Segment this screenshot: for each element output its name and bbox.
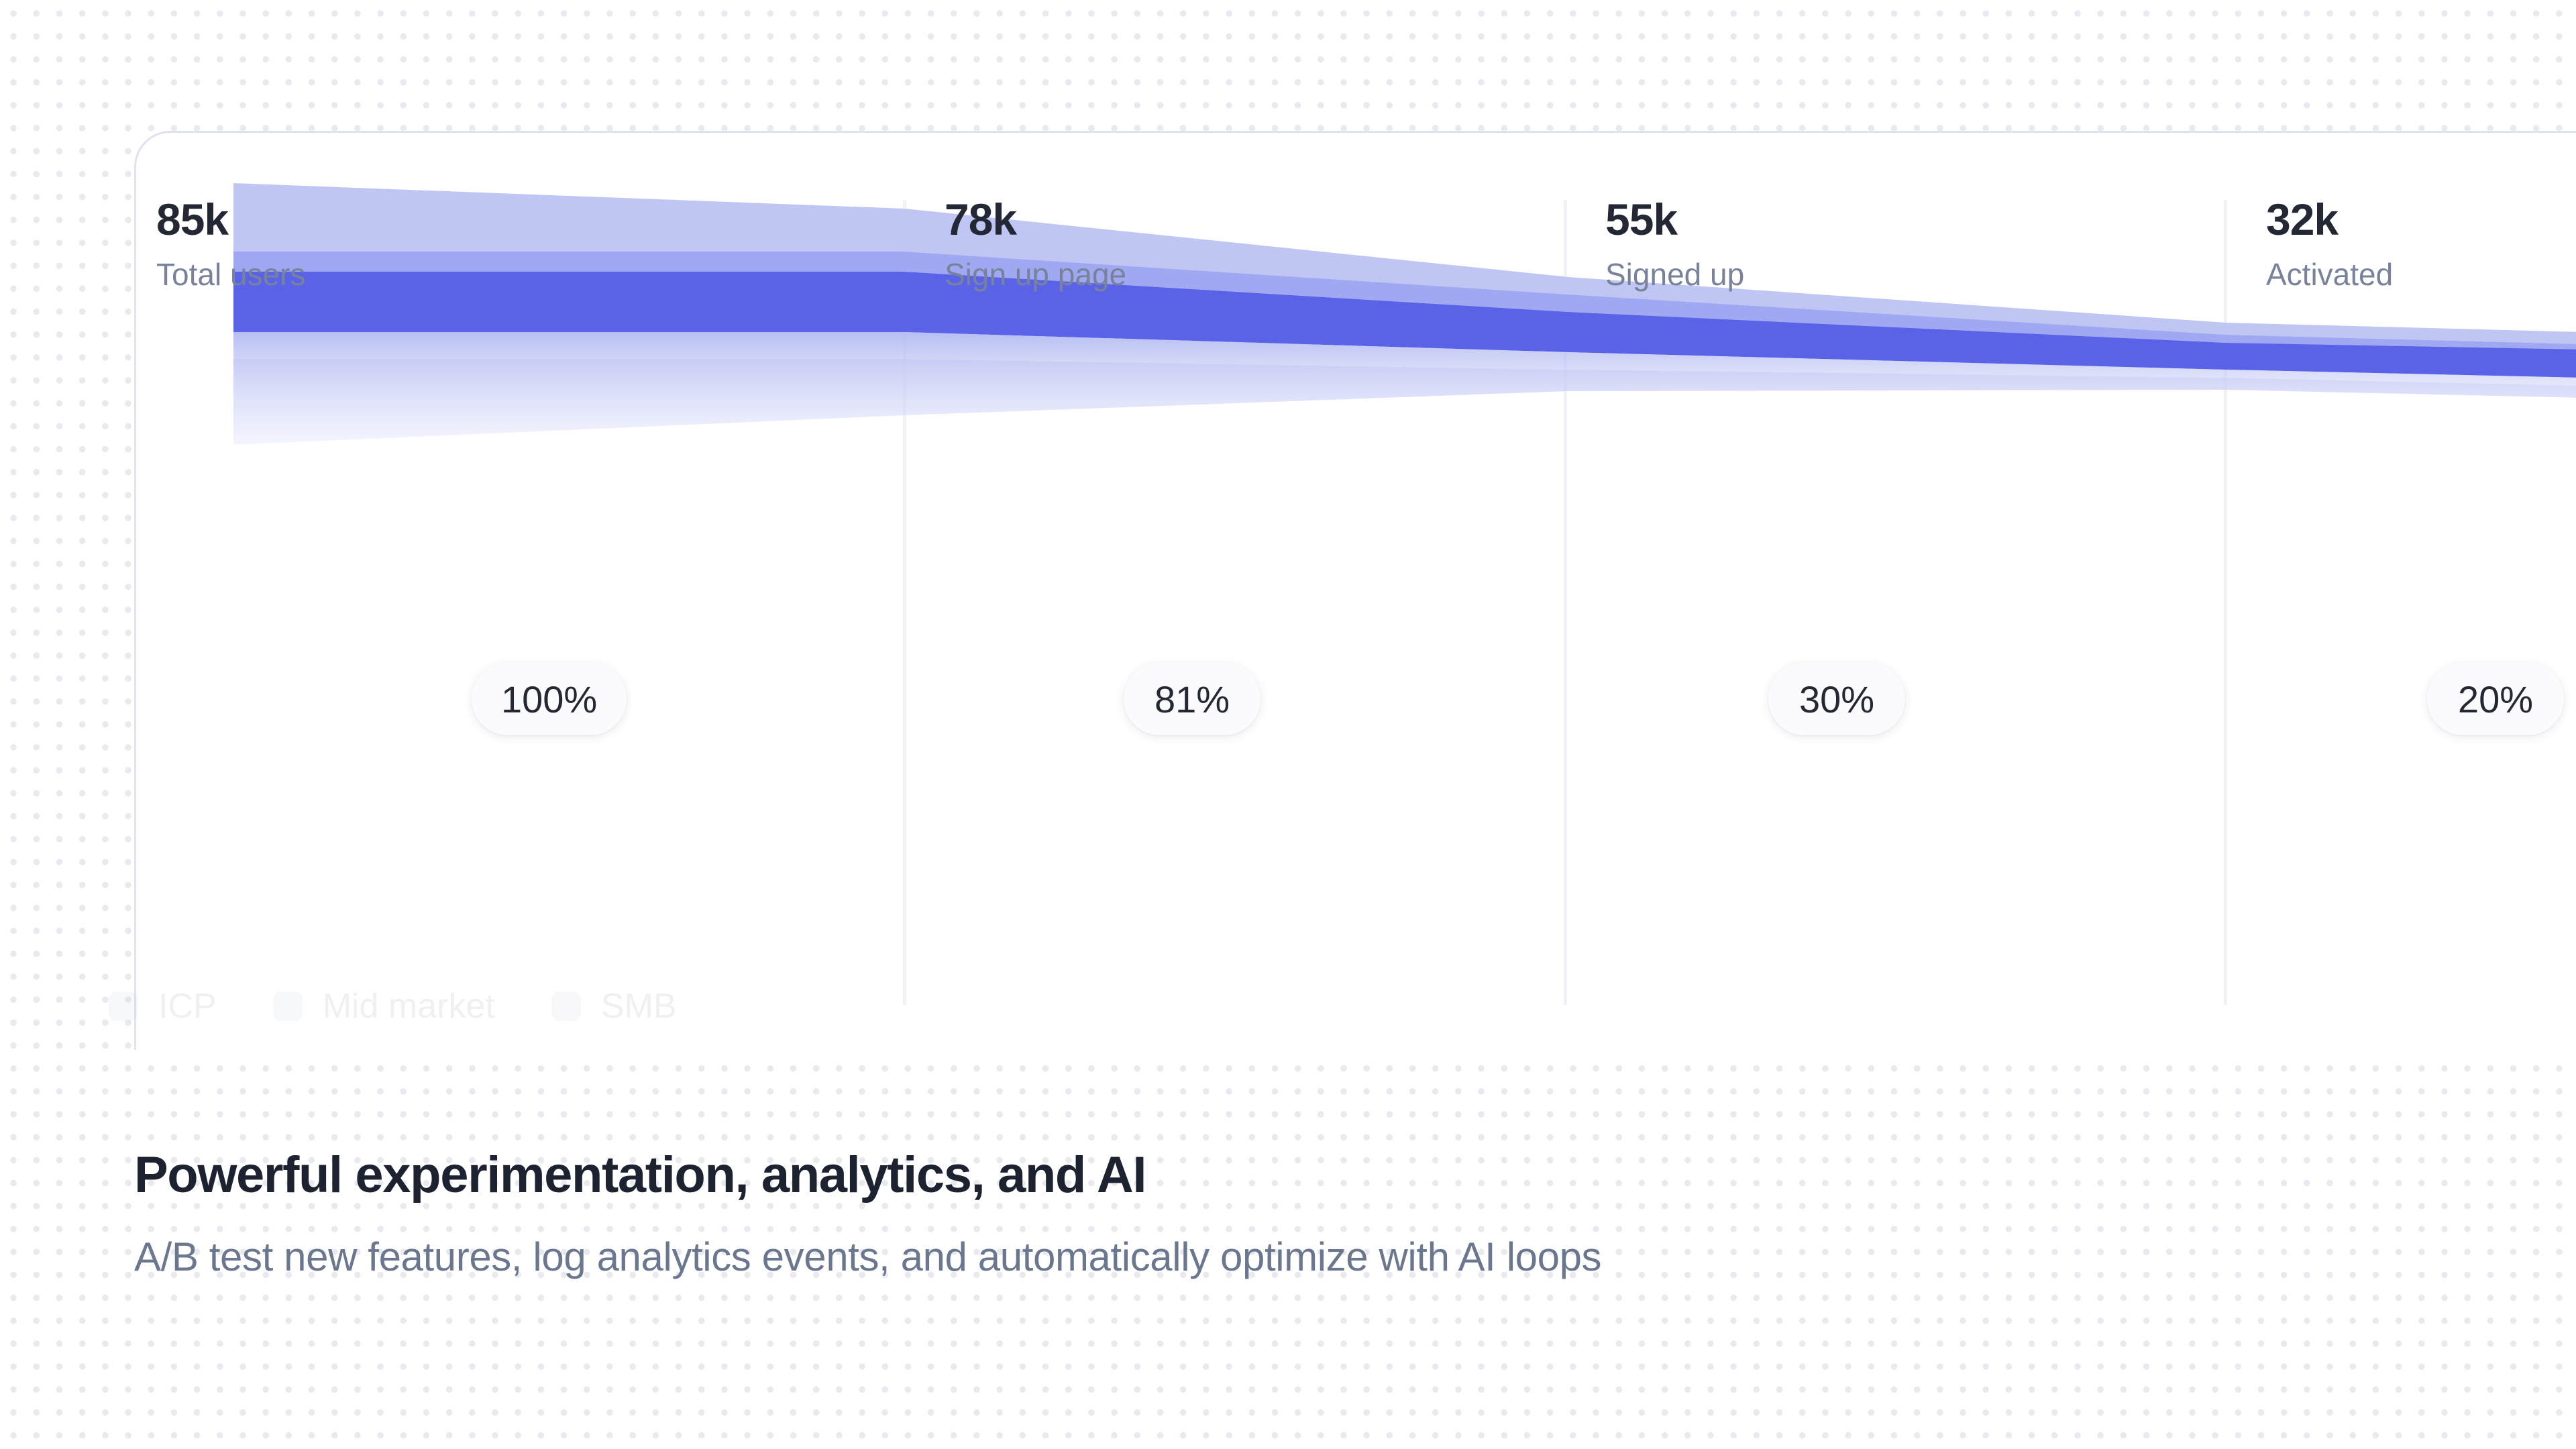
- stage-label: Activated: [2266, 259, 2393, 290]
- stage-label: Total users: [156, 259, 305, 290]
- caption-subtitle: A/B test new features, log analytics eve…: [134, 1232, 2415, 1282]
- legend-swatch-icon: [109, 991, 138, 1021]
- stage-divider-3: [2224, 200, 2227, 1005]
- legend-swatch-icon: [273, 991, 303, 1021]
- legend-label: SMB: [601, 986, 677, 1026]
- funnel-chart-page: 85k Total users 78k Sign up page 55k Sig…: [0, 0, 2576, 1449]
- stage-value: 32k: [2266, 197, 2393, 241]
- stage-divider-2: [1564, 200, 1567, 1005]
- legend-label: Mid market: [323, 986, 495, 1026]
- stage-header-0: 85k Total users: [156, 197, 305, 290]
- stage-header-3: 32k Activated: [2266, 197, 2393, 290]
- legend-item-smb[interactable]: SMB: [551, 986, 677, 1026]
- stage-divider-1: [903, 200, 906, 1005]
- stage-value: 85k: [156, 197, 305, 241]
- funnel-svg: [136, 176, 2576, 451]
- legend-item-mid-market[interactable]: Mid market: [273, 986, 495, 1026]
- conversion-pill-0[interactable]: 100%: [472, 663, 627, 735]
- conversion-pill-1[interactable]: 81%: [1124, 663, 1260, 735]
- caption-block: Powerful experimentation, analytics, and…: [134, 1147, 2415, 1282]
- legend-swatch-icon: [551, 991, 581, 1021]
- legend-label: ICP: [158, 986, 217, 1026]
- legend-item-icp[interactable]: ICP: [109, 986, 217, 1026]
- stage-header-1: 78k Sign up page: [945, 197, 1126, 290]
- stage-value: 55k: [1605, 197, 1744, 241]
- funnel-legend: ICP Mid market SMB: [109, 986, 677, 1026]
- conversion-pill-2[interactable]: 30%: [1768, 663, 1905, 735]
- stage-label: Signed up: [1605, 259, 1744, 290]
- stage-value: 78k: [945, 197, 1126, 241]
- stage-header-2: 55k Signed up: [1605, 197, 1744, 290]
- analytics-card-inner: 85k Total users 78k Sign up page 55k Sig…: [136, 133, 2576, 1050]
- conversion-pill-3[interactable]: 20%: [2427, 663, 2564, 735]
- funnel-ribbon: [136, 176, 2576, 451]
- caption-title: Powerful experimentation, analytics, and…: [134, 1147, 2415, 1203]
- analytics-card: 85k Total users 78k Sign up page 55k Sig…: [134, 131, 2576, 1050]
- stage-label: Sign up page: [945, 259, 1126, 290]
